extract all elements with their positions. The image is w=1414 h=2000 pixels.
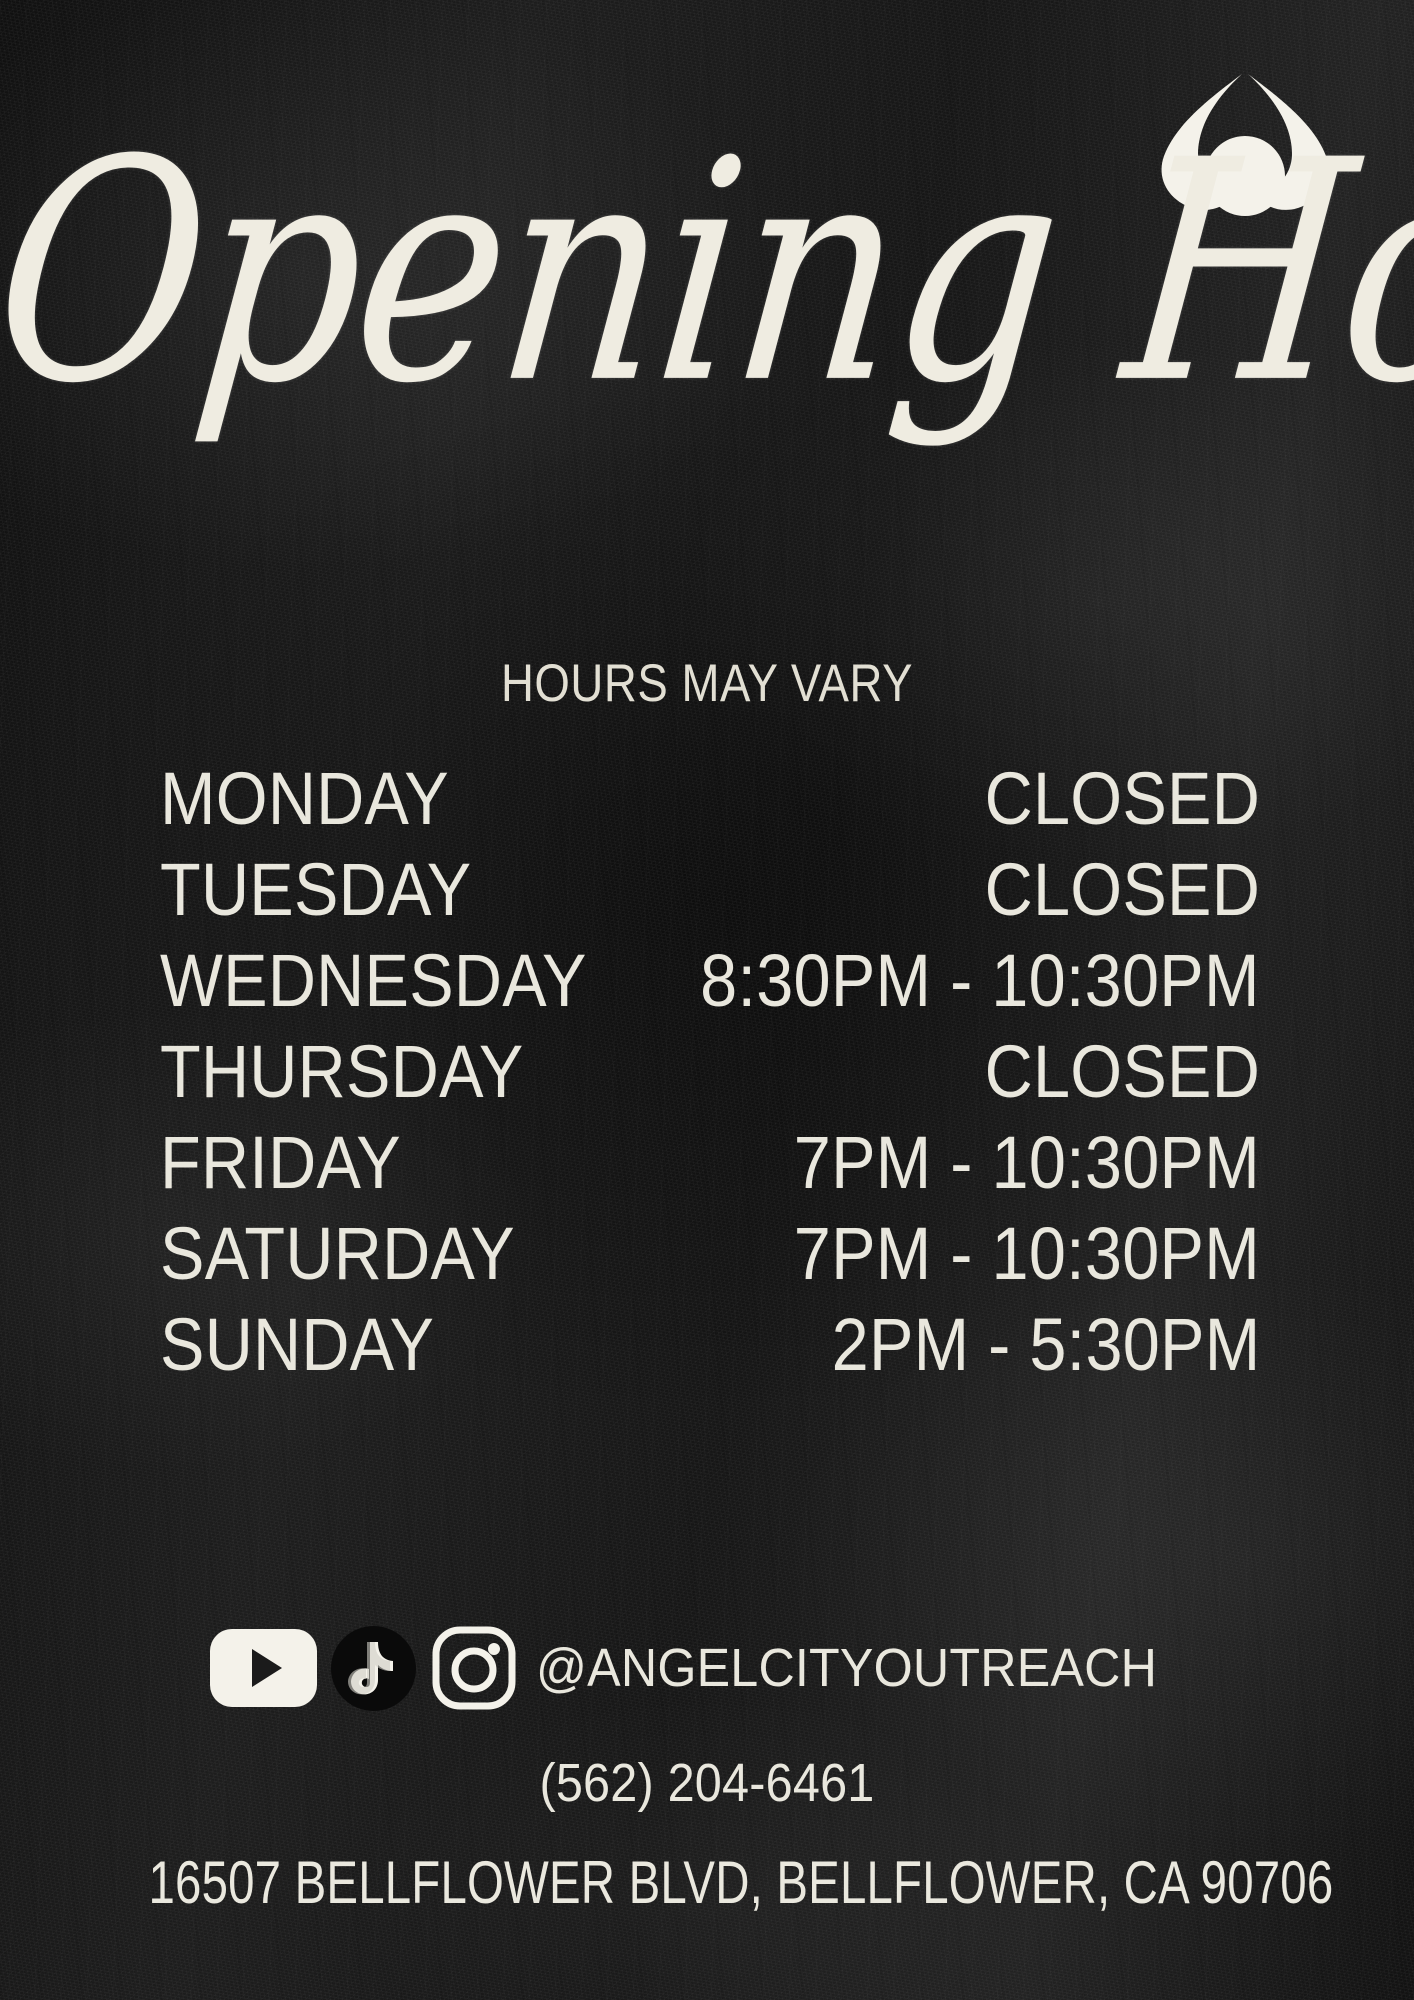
time-value: CLOSED bbox=[985, 762, 1260, 836]
day-label: THURSDAY bbox=[160, 1035, 524, 1109]
day-label: MONDAY bbox=[160, 762, 449, 836]
hours-row: TUESDAY CLOSED bbox=[160, 853, 1260, 944]
day-label: FRIDAY bbox=[160, 1126, 401, 1200]
day-label: WEDNESDAY bbox=[160, 944, 587, 1018]
social-handles-row: @ANGELCITYOUTREACH bbox=[0, 1624, 1414, 1712]
time-value: CLOSED bbox=[985, 853, 1260, 927]
time-value: 7PM - 10:30PM bbox=[794, 1217, 1260, 1291]
hours-row: SUNDAY 2PM - 5:30PM bbox=[160, 1308, 1260, 1399]
day-label: SUNDAY bbox=[160, 1308, 434, 1382]
time-value: 7PM - 10:30PM bbox=[794, 1126, 1260, 1200]
phone-number[interactable]: (562) 204-6461 bbox=[71, 1752, 1344, 1814]
youtube-icon[interactable] bbox=[210, 1629, 317, 1707]
day-label: SATURDAY bbox=[160, 1217, 515, 1291]
play-triangle-icon bbox=[252, 1649, 282, 1687]
hours-row: SATURDAY 7PM - 10:30PM bbox=[160, 1217, 1260, 1308]
hours-row: WEDNESDAY 8:30PM - 10:30PM bbox=[160, 944, 1260, 1035]
opening-hours-list: MONDAY CLOSED TUESDAY CLOSED WEDNESDAY 8… bbox=[160, 762, 1260, 1399]
subtitle-hours-may-vary: HOURS MAY VARY bbox=[99, 653, 1315, 714]
hours-row: MONDAY CLOSED bbox=[160, 762, 1260, 853]
time-value: CLOSED bbox=[985, 1035, 1260, 1109]
social-handle-text: @ANGELCITYOUTREACH bbox=[536, 1637, 1157, 1699]
time-value: 8:30PM - 10:30PM bbox=[700, 944, 1260, 1018]
tiktok-icon[interactable] bbox=[331, 1626, 416, 1711]
instagram-icon[interactable] bbox=[430, 1624, 518, 1712]
time-value: 2PM - 5:30PM bbox=[831, 1308, 1260, 1382]
page-title: Opening Hours bbox=[0, 121, 1414, 426]
hours-row: FRIDAY 7PM - 10:30PM bbox=[160, 1126, 1260, 1217]
day-label: TUESDAY bbox=[160, 853, 471, 927]
hours-row: THURSDAY CLOSED bbox=[160, 1035, 1260, 1126]
opening-hours-poster: Opening Hours HOURS MAY VARY MONDAY CLOS… bbox=[0, 0, 1414, 2000]
street-address: 16507 BELLFLOWER BLVD, BELLFLOWER, CA 90… bbox=[148, 1848, 1265, 1917]
